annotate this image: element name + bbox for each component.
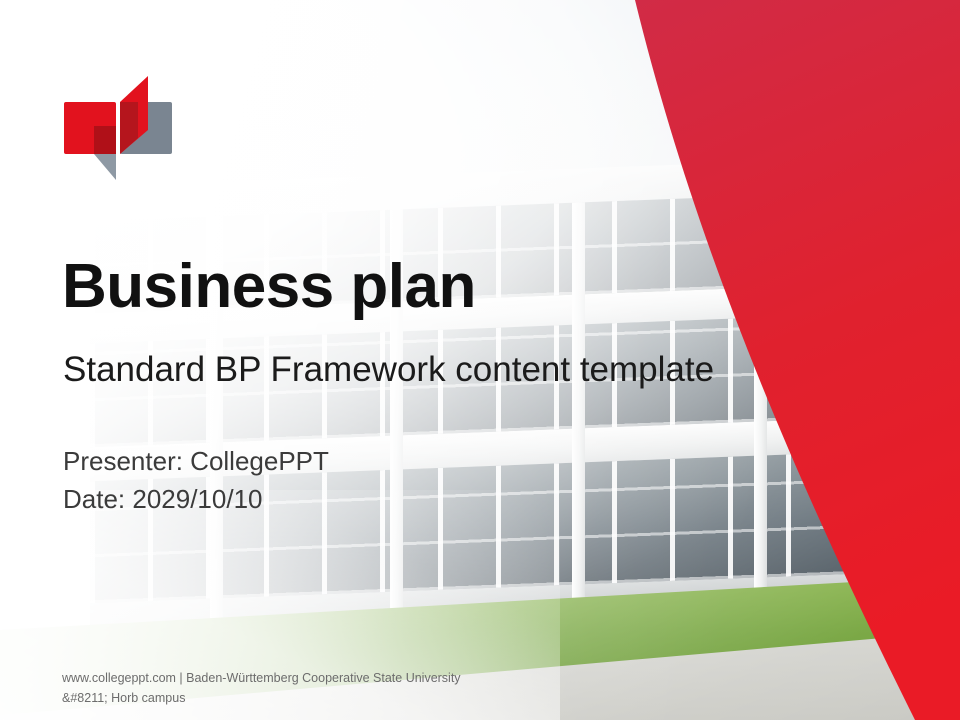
page-title: Business plan — [62, 254, 476, 319]
slide-meta: Presenter: CollegePPT Date: 2029/10/10 — [63, 443, 329, 518]
footer-line-1: www.collegeppt.com | Baden-Württemberg C… — [62, 668, 461, 688]
page-subtitle: Standard BP Framework content template — [63, 349, 714, 391]
presenter-line: Presenter: CollegePPT — [63, 443, 329, 481]
date-line: Date: 2029/10/10 — [63, 481, 329, 519]
dhbw-logo — [62, 74, 186, 182]
footer-line-2: &#8211; Horb campus — [62, 688, 461, 708]
presentation-slide: Business plan Standard BP Framework cont… — [0, 0, 960, 720]
slide-footer: www.collegeppt.com | Baden-Württemberg C… — [62, 668, 461, 708]
